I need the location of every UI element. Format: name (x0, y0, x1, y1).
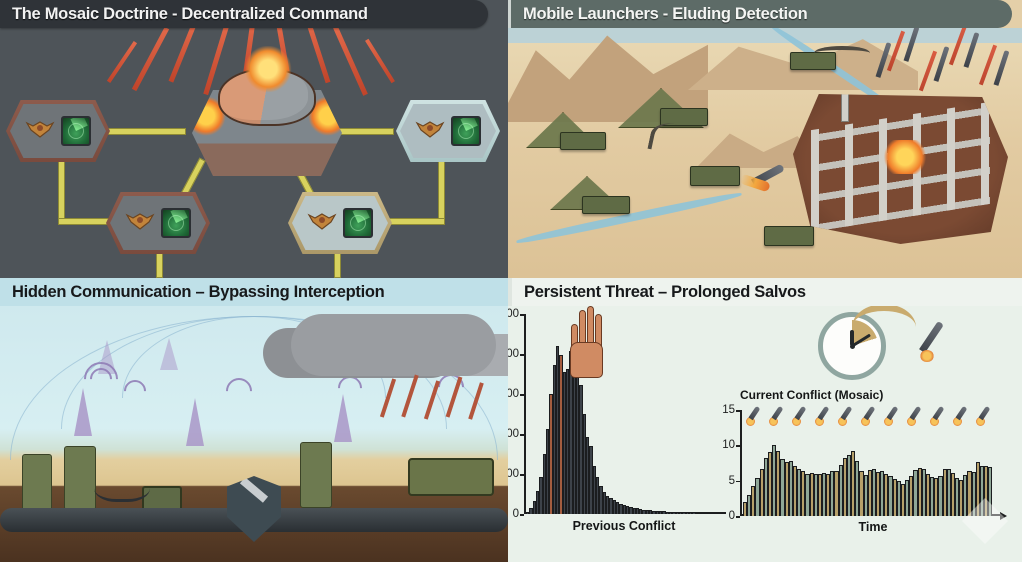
panel-title-bar: Mobile Launchers - Eluding Detection (508, 0, 1012, 28)
shield-protection (227, 476, 281, 542)
panel-title-bar: Persistent Threat – Prolonged Salvos (508, 278, 1022, 306)
radar-screen (451, 116, 481, 146)
y-tick-mark (736, 481, 740, 483)
histogram-bars (526, 314, 726, 514)
link-lower-left-stem (156, 250, 163, 278)
link-hub-to-upper-left (104, 128, 186, 135)
y-tick-mark (520, 514, 524, 516)
diamond-play-watermark (962, 498, 1008, 544)
launcher-truck-1 (560, 132, 606, 150)
field-phone-wire (94, 468, 150, 502)
y-tick-mark (736, 516, 740, 518)
node-upper-left[interactable] (6, 100, 110, 162)
panel-title-bar: Hidden Communication – Bypassing Interce… (0, 278, 508, 306)
eagle-emblem (307, 209, 337, 237)
missile-icon (953, 406, 969, 426)
missile-icon (838, 406, 854, 426)
missile-body (979, 406, 991, 420)
y-tick-label: 200 (508, 428, 519, 440)
y-tick-label: 0 (513, 508, 519, 520)
eagle-emblem (25, 117, 55, 145)
y-tick-mark (520, 474, 524, 476)
comms-scene (0, 306, 508, 562)
y-tick-label: 15 (722, 404, 735, 416)
panel-hidden-communication: Hidden Communication – Bypassing Interce… (0, 278, 508, 562)
missile-body (772, 406, 784, 420)
y-tick-label: 500 (508, 308, 519, 320)
y-tick-mark (520, 314, 524, 316)
launcher-truck-5 (764, 226, 814, 246)
y-tick-mark (736, 445, 740, 447)
clock-missile-flame (920, 350, 934, 362)
chart-previous-conflict: 0100200300400500 Previous Conflict (524, 314, 724, 532)
missile-body (887, 406, 899, 420)
missile-body (933, 406, 945, 420)
y-tick-label: 5 (729, 475, 735, 487)
missile-body (864, 406, 876, 420)
time-sweep-arrow (852, 304, 916, 332)
eagle-emblem (415, 117, 445, 145)
radio-tower-2 (186, 398, 204, 446)
eagle-emblem (125, 209, 155, 237)
infographic-grid: The Mosaic Doctrine - Decentralized Comm… (0, 0, 1022, 562)
salvos-charts-scene: 0100200300400500 Previous Conflict (508, 306, 1022, 562)
missile-body (841, 406, 853, 420)
y-tick-label: 100 (508, 468, 519, 480)
panel-mobile-launchers: Mobile Launchers - Eluding Detection (508, 0, 1022, 278)
missile-icon (769, 406, 785, 426)
bar (722, 513, 725, 514)
missile-salvo-row (746, 406, 992, 428)
missile-body (910, 406, 922, 420)
soldier-kneeling-2 (64, 446, 96, 510)
panel-persistent-threat: 0100200300400500 Previous Conflict (508, 278, 1022, 562)
shield-cable-slash (240, 477, 268, 502)
missile-body (818, 406, 830, 420)
camouflaged-launcher (408, 458, 494, 496)
panel-title-mosaic: The Mosaic Doctrine - Decentralized Comm… (0, 5, 368, 24)
missile-icon (930, 406, 946, 426)
mosaic-network-scene (0, 28, 508, 278)
radio-tower-3 (334, 394, 352, 442)
chart-a-xlabel: Previous Conflict (524, 519, 724, 533)
missile-icon (907, 406, 923, 426)
chart-b-title: Current Conflict (Mosaic) (740, 388, 883, 402)
panel-title-bar: The Mosaic Doctrine - Decentralized Comm… (0, 0, 488, 28)
y-tick-mark (520, 394, 524, 396)
bunker-strike-impact (881, 140, 929, 174)
link-lower-right-stem (334, 250, 341, 278)
radio-tower-1 (74, 388, 92, 436)
y-tick-mark (520, 434, 524, 436)
jamming-cloud (291, 314, 496, 376)
node-upper-right[interactable] (396, 100, 500, 162)
y-tick-label: 0 (729, 510, 735, 522)
bunker-vent-stack (841, 92, 849, 122)
movement-arrow-2 (814, 46, 870, 60)
explosion-top (242, 46, 294, 92)
panel-title-comms: Hidden Communication – Bypassing Interce… (0, 283, 384, 302)
missile-icon (792, 406, 808, 426)
panel-title-salvos: Persistent Threat – Prolonged Salvos (512, 283, 806, 302)
node-lower-left[interactable] (106, 192, 210, 254)
missile-icon (746, 406, 762, 426)
missile-body (956, 406, 968, 420)
underground-bunker (793, 94, 1008, 244)
radar-screen (61, 116, 91, 146)
launcher-truck-3 (582, 196, 630, 214)
y-tick-label: 10 (722, 439, 735, 451)
node-lower-right[interactable] (288, 192, 392, 254)
radar-screen (161, 208, 191, 238)
y-tick-mark (736, 410, 740, 412)
y-tick-mark (520, 354, 524, 356)
clock-center-pin (850, 344, 855, 349)
missile-icon (861, 406, 877, 426)
y-axis (740, 410, 742, 516)
missile-icon (884, 406, 900, 426)
missile-body (749, 406, 761, 420)
hand-reaching-up (570, 302, 606, 388)
panel-mosaic-doctrine: The Mosaic Doctrine - Decentralized Comm… (0, 0, 508, 278)
launcher-truck-4 (690, 166, 740, 186)
radio-tower-5 (160, 338, 178, 370)
y-tick-label: 300 (508, 388, 519, 400)
running-courier (300, 442, 332, 508)
missile-body (795, 406, 807, 420)
missile-icon (815, 406, 831, 426)
soldier-kneeling-1 (22, 454, 52, 512)
launcher-terrain-scene (508, 28, 1022, 278)
y-tick-label: 400 (508, 348, 519, 360)
radar-screen (343, 208, 373, 238)
clock-missile-icon (919, 321, 944, 353)
missile-icon (976, 406, 992, 426)
panel-title-launchers: Mobile Launchers - Eluding Detection (511, 5, 807, 24)
